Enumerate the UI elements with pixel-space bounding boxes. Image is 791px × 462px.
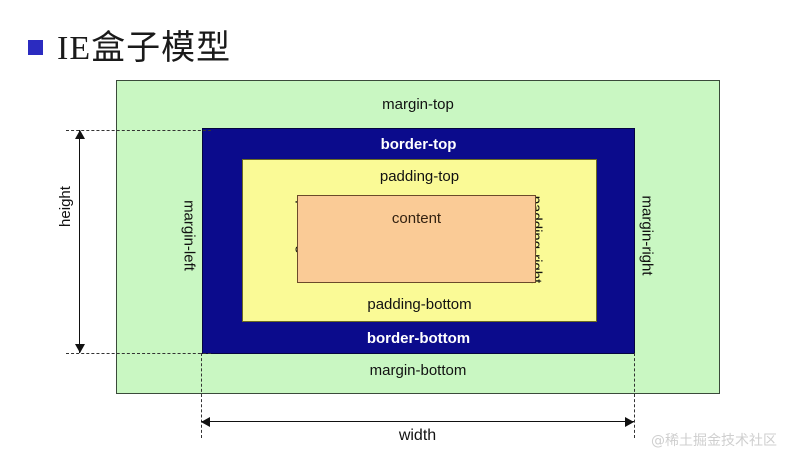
- margin-top-label: margin-top: [117, 96, 719, 113]
- margin-left-label: margin-left: [181, 188, 198, 284]
- arrow-down-icon: [75, 344, 85, 353]
- border-layer: border-top border-bottom border-left bor…: [202, 128, 635, 354]
- content-layer: content: [297, 195, 536, 283]
- guide-line-top: [66, 130, 211, 131]
- padding-top-label: padding-top: [243, 168, 596, 185]
- arrow-up-icon: [75, 130, 85, 139]
- content-label: content: [298, 210, 535, 227]
- width-dimension-arrow: [201, 421, 634, 422]
- arrow-right-icon: [625, 417, 634, 427]
- arrow-left-icon: [201, 417, 210, 427]
- watermark: @稀土掘金技术社区: [651, 430, 777, 450]
- margin-right-label: margin-right: [639, 188, 656, 284]
- margin-bottom-label: margin-bottom: [117, 362, 719, 379]
- guide-line-bottom: [66, 353, 211, 354]
- box-model-diagram: margin-top margin-bottom margin-left mar…: [116, 80, 720, 394]
- bullet-square-icon: [28, 40, 43, 55]
- padding-layer: padding-top padding-bottom padding-left …: [242, 159, 597, 322]
- padding-bottom-label: padding-bottom: [243, 296, 596, 313]
- width-label: width: [201, 427, 634, 445]
- height-dimension-arrow: [79, 130, 80, 353]
- border-top-label: border-top: [203, 136, 634, 153]
- height-label: height: [57, 186, 74, 227]
- guide-line-right: [634, 353, 635, 438]
- page-title: IE盒子模型: [28, 20, 231, 69]
- page-title-text: IE盒子模型: [57, 20, 231, 69]
- margin-layer: margin-top margin-bottom margin-left mar…: [116, 80, 720, 394]
- border-bottom-label: border-bottom: [203, 330, 634, 347]
